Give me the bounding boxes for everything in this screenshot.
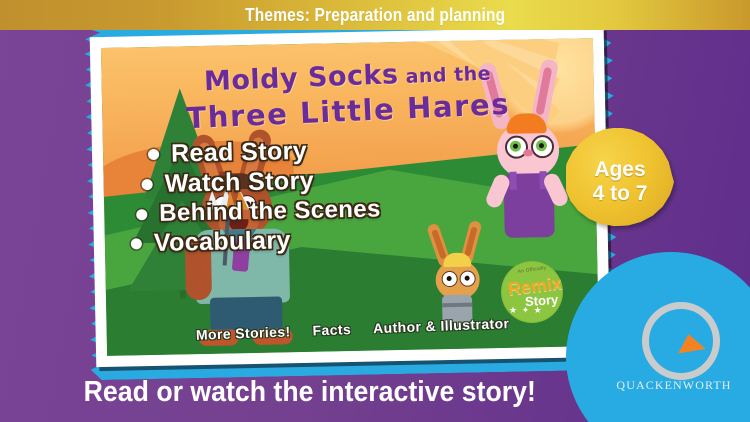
story-card[interactable]: Moldy Socksand the Three Little Hares Re… — [83, 21, 620, 377]
menu-item-label: Vocabulary — [154, 226, 291, 258]
themes-banner: Themes: Preparation and planning — [0, 0, 750, 30]
bullet-icon — [148, 149, 159, 160]
ages-badge-line2: 4 to 7 — [593, 183, 648, 205]
menu-item-label: Read Story — [171, 137, 308, 169]
quackenworth-q-icon — [642, 302, 720, 380]
logo-wordmark: QUACKENWORTH — [604, 378, 744, 393]
themes-banner-text: Themes: Preparation and planning — [245, 5, 505, 26]
bullet-icon — [131, 238, 142, 249]
bullet-icon — [142, 179, 153, 190]
ages-badge-text: Ages 4 to 7 — [566, 128, 674, 236]
remix-badge: An Officially Remix Story ★ ✦ ★ — [501, 261, 563, 323]
bullet-icon — [136, 209, 147, 220]
bottom-caption: Read or watch the interactive story! — [0, 366, 620, 418]
ages-badge: Ages 4 to 7 — [566, 128, 674, 236]
menu-item-label: Watch Story — [164, 167, 314, 199]
ages-badge-line1: Ages — [594, 159, 645, 181]
story-menu: Read Story Watch Story Behind the Scenes… — [103, 130, 597, 260]
bottom-caption-text: Read or watch the interactive story! — [84, 376, 536, 409]
link-facts[interactable]: Facts — [312, 321, 351, 338]
app-screen: Themes: Preparation and planning — [0, 0, 750, 422]
remix-badge-stars: ★ ✦ ★ — [509, 305, 543, 316]
menu-item-label: Behind the Scenes — [159, 195, 381, 227]
